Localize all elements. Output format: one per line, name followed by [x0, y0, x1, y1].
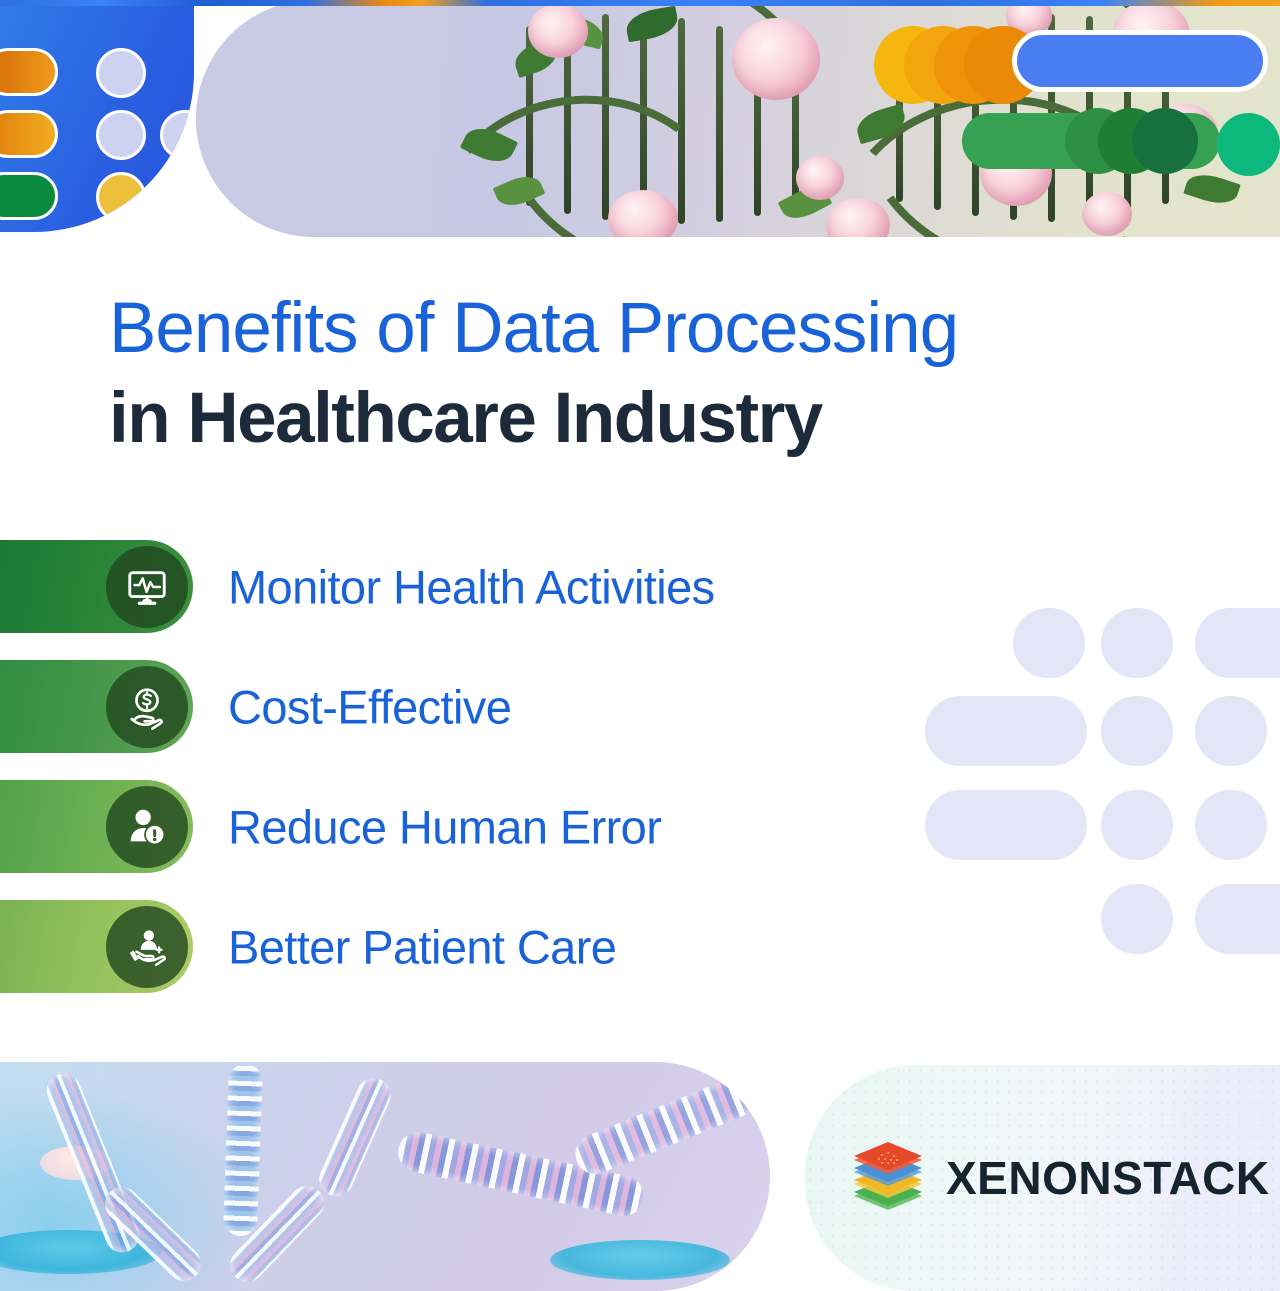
- benefit-label: Reduce Human Error: [228, 799, 661, 854]
- xenonstack-stacked-layers-logo: [852, 1140, 924, 1216]
- infographic-canvas: Benefits of Data Processing in Healthcar…: [0, 0, 1280, 1291]
- benefit-label: Monitor Health Activities: [228, 559, 715, 614]
- heading-line-2: in Healthcare Industry: [109, 376, 1109, 462]
- overlay-pill-blue: [1012, 30, 1268, 92]
- heading-line-1: Benefits of Data Processing: [109, 286, 1109, 372]
- flower-decor: [528, 4, 588, 58]
- monitor-heartbeat-icon: [106, 546, 188, 628]
- page-title: Benefits of Data Processing in Healthcar…: [109, 286, 1109, 462]
- list-item[interactable]: Reduce Human Error: [0, 776, 900, 877]
- patient-care-hand-icon: [106, 906, 188, 988]
- list-item[interactable]: Monitor Health Activities: [0, 536, 900, 637]
- brand-logo-panel: XENONSTACK: [805, 1065, 1280, 1291]
- list-item[interactable]: Cost-Effective: [0, 656, 900, 757]
- decorative-gradient-strip: [0, 0, 1280, 6]
- data-cells-grid-decoration: [0, 0, 194, 232]
- overlay-dot-teal: [1217, 113, 1280, 176]
- iridescent-glass-tubes-photo: [0, 1062, 770, 1291]
- money-in-hand-icon: [106, 666, 188, 748]
- flower-decor: [1082, 192, 1132, 236]
- person-alert-icon: [106, 786, 188, 868]
- overlay-dot-green-3: [1132, 108, 1198, 174]
- brand-name: XENONSTACK: [946, 1151, 1270, 1205]
- benefit-label: Cost-Effective: [228, 679, 511, 734]
- benefits-list: Monitor Health Activities Cost-Effective: [0, 536, 900, 1016]
- flower-decor: [796, 156, 844, 200]
- list-item[interactable]: Better Patient Care: [0, 896, 900, 997]
- flower-decor: [732, 18, 820, 100]
- pill-grid-decoration: [905, 600, 1280, 945]
- benefit-label: Better Patient Care: [228, 919, 616, 974]
